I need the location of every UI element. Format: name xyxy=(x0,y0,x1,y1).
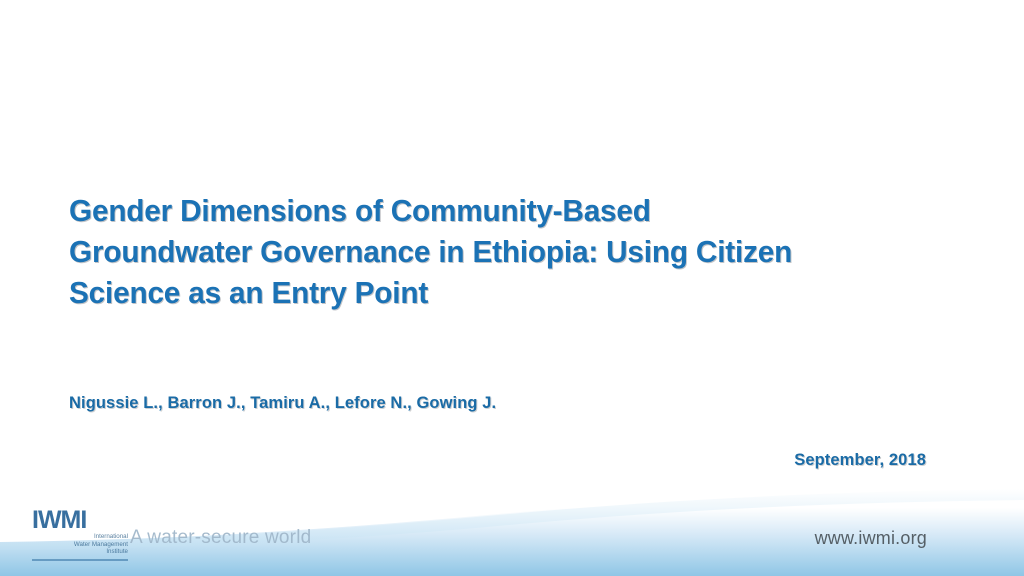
footer-tagline: A water-secure world xyxy=(130,527,311,549)
page-title: Gender Dimensions of Community-Based Gro… xyxy=(69,190,895,313)
iwmi-logo-wordmark: IWMI xyxy=(32,508,137,532)
presentation-title-slide: Gender Dimensions of Community-Based Gro… xyxy=(0,0,1024,576)
presentation-date: September, 2018 xyxy=(794,451,926,470)
iwmi-logo-subtitle: International Water Management Institute xyxy=(32,533,128,556)
authors-line: Nigussie L., Barron J., Tamiru A., Lefor… xyxy=(69,394,496,413)
slide-footer: IWMI International Water Management Inst… xyxy=(0,486,1024,576)
title-block: Gender Dimensions of Community-Based Gro… xyxy=(69,190,929,313)
logo-divider xyxy=(32,559,128,561)
footer-website-url[interactable]: www.iwmi.org xyxy=(815,528,927,549)
iwmi-logo: IWMI International Water Management Inst… xyxy=(32,508,137,570)
